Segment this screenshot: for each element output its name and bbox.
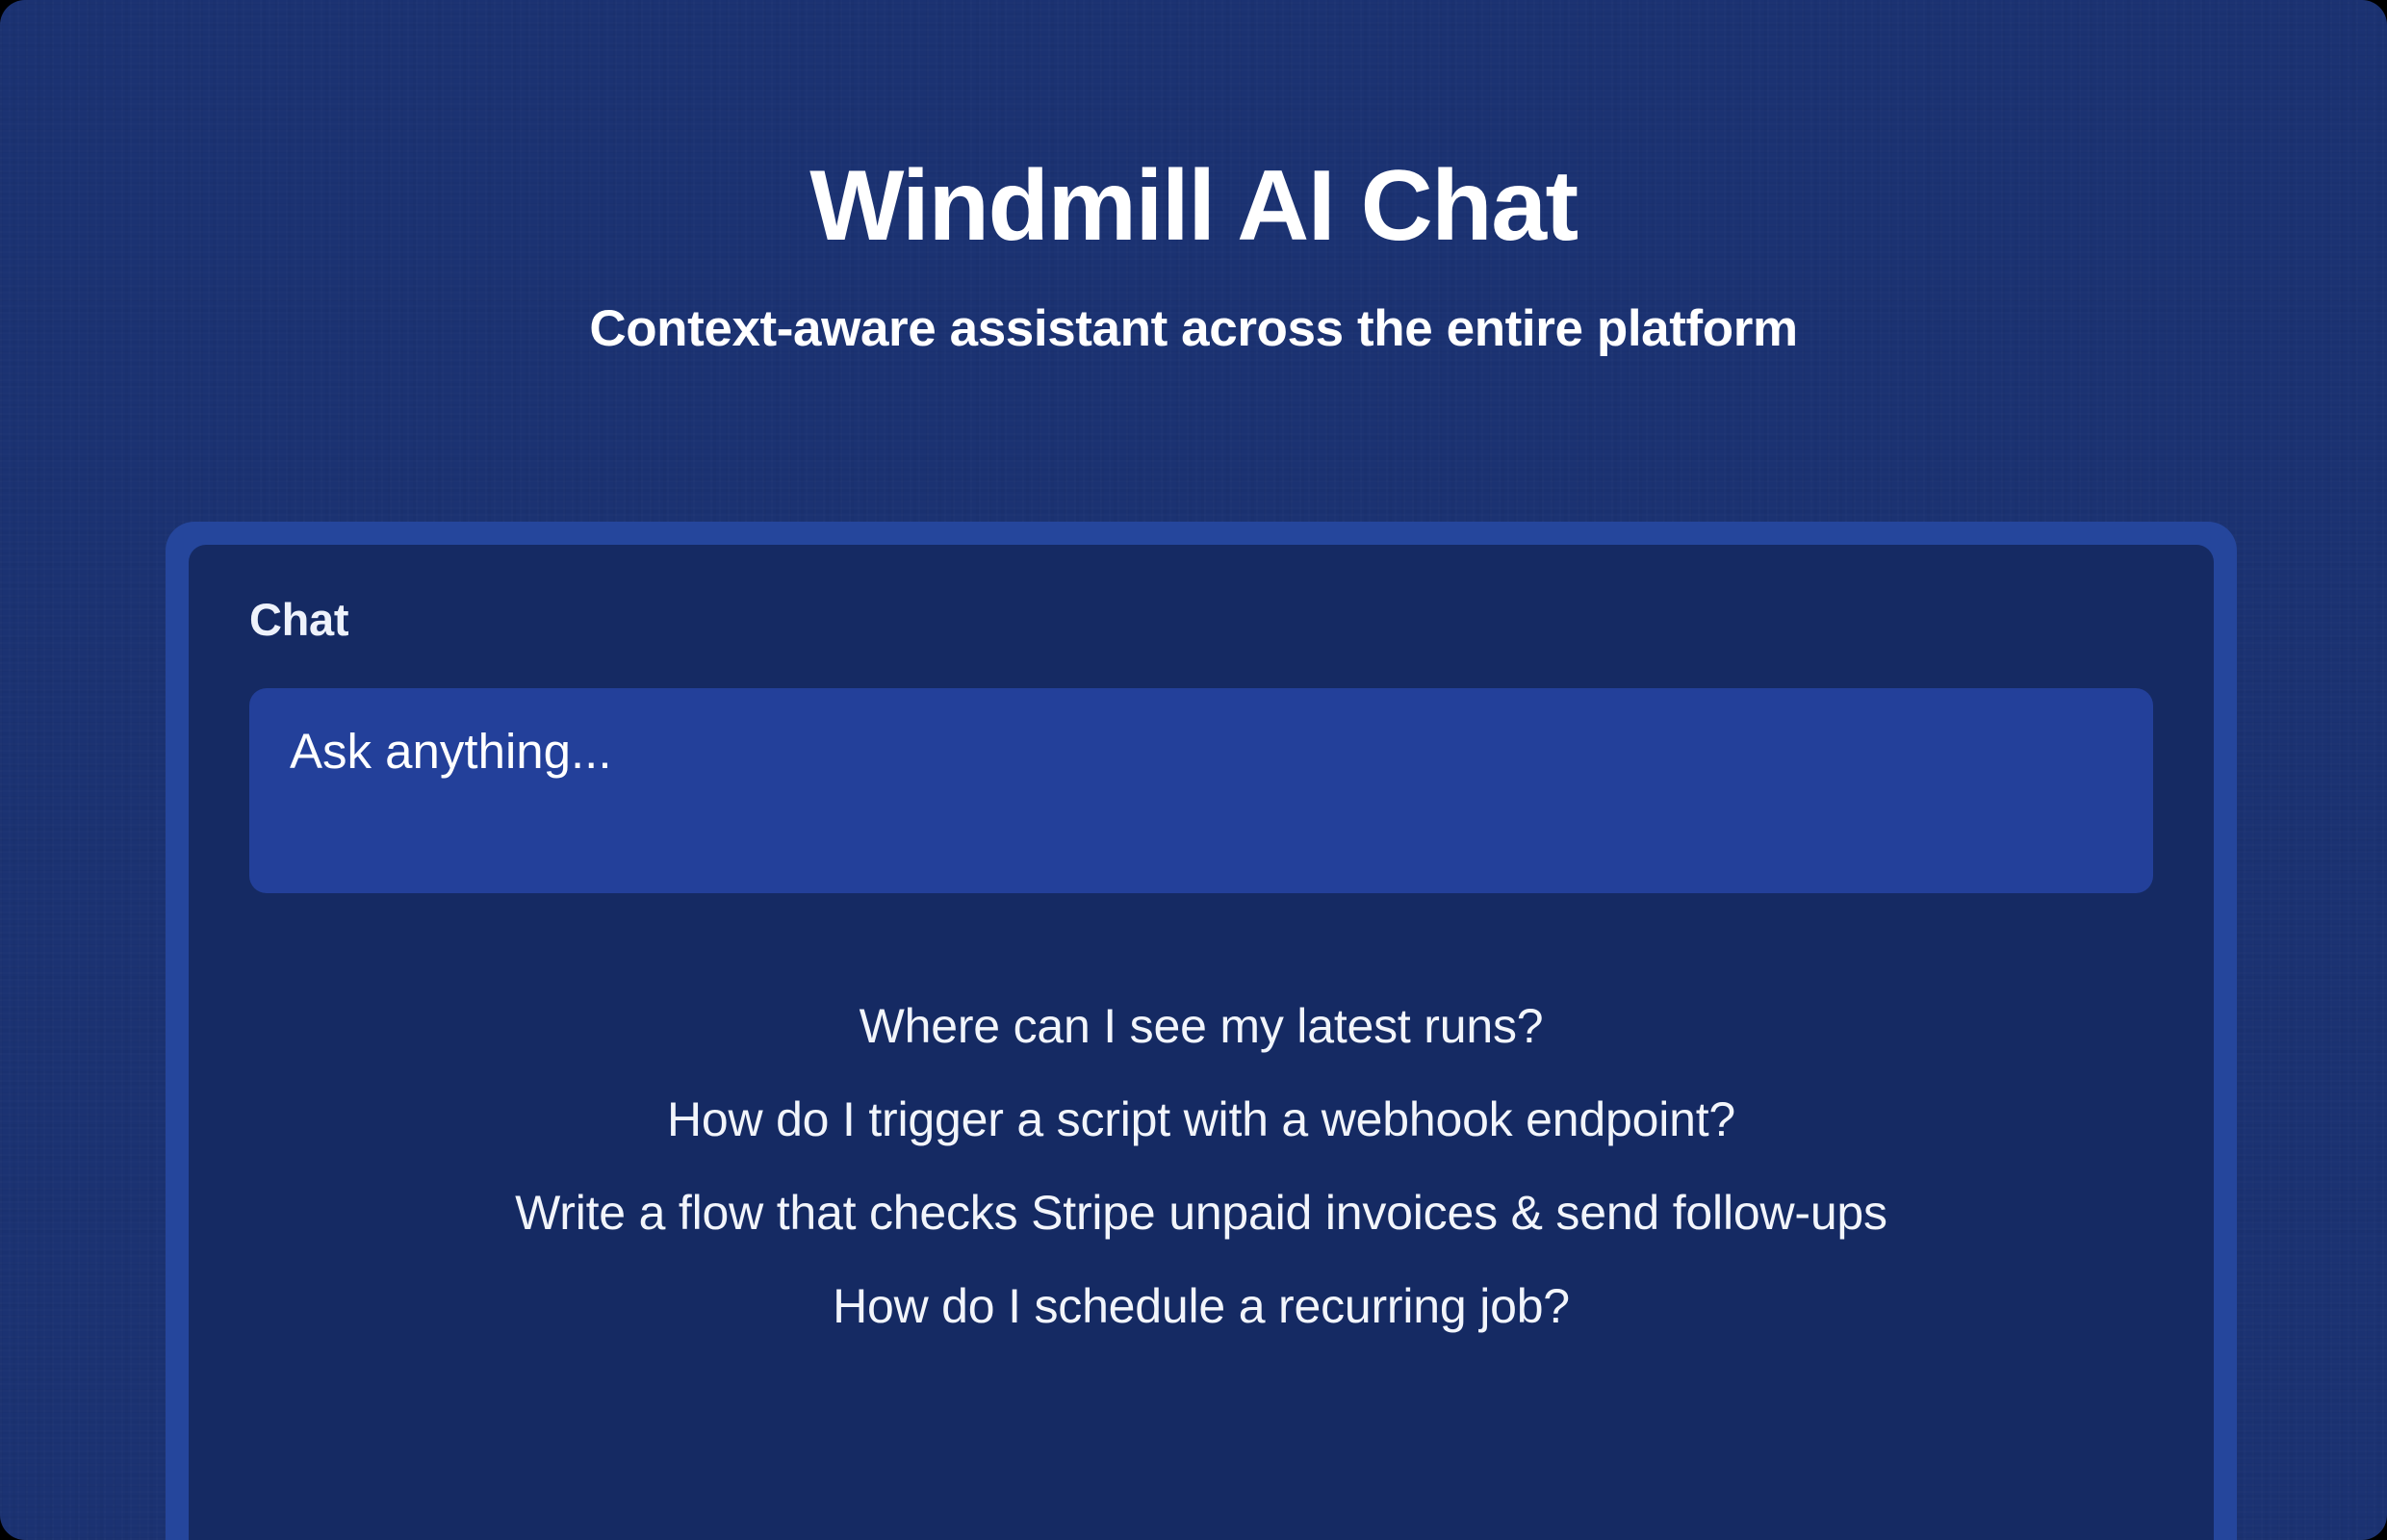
- suggestion-item[interactable]: How do I trigger a script with a webhook…: [249, 1073, 2153, 1167]
- suggestion-item[interactable]: How do I schedule a recurring job?: [249, 1260, 2153, 1353]
- suggestion-item[interactable]: Where can I see my latest runs?: [249, 980, 2153, 1073]
- app-root: Windmill AI Chat Context-aware assistant…: [0, 0, 2387, 1540]
- page-title: Windmill AI Chat: [0, 152, 2387, 260]
- chat-card: Chat Where can I see my latest runs? How…: [166, 522, 2237, 1540]
- hero-section: Windmill AI Chat Context-aware assistant…: [0, 152, 2387, 359]
- suggestion-item[interactable]: Write a flow that checks Stripe unpaid i…: [249, 1167, 2153, 1260]
- page-subtitle: Context-aware assistant across the entir…: [0, 300, 2387, 359]
- suggestion-list: Where can I see my latest runs? How do I…: [249, 980, 2153, 1353]
- chat-heading: Chat: [249, 595, 2153, 645]
- chat-panel: Chat Where can I see my latest runs? How…: [189, 545, 2214, 1540]
- chat-input[interactable]: [249, 688, 2153, 893]
